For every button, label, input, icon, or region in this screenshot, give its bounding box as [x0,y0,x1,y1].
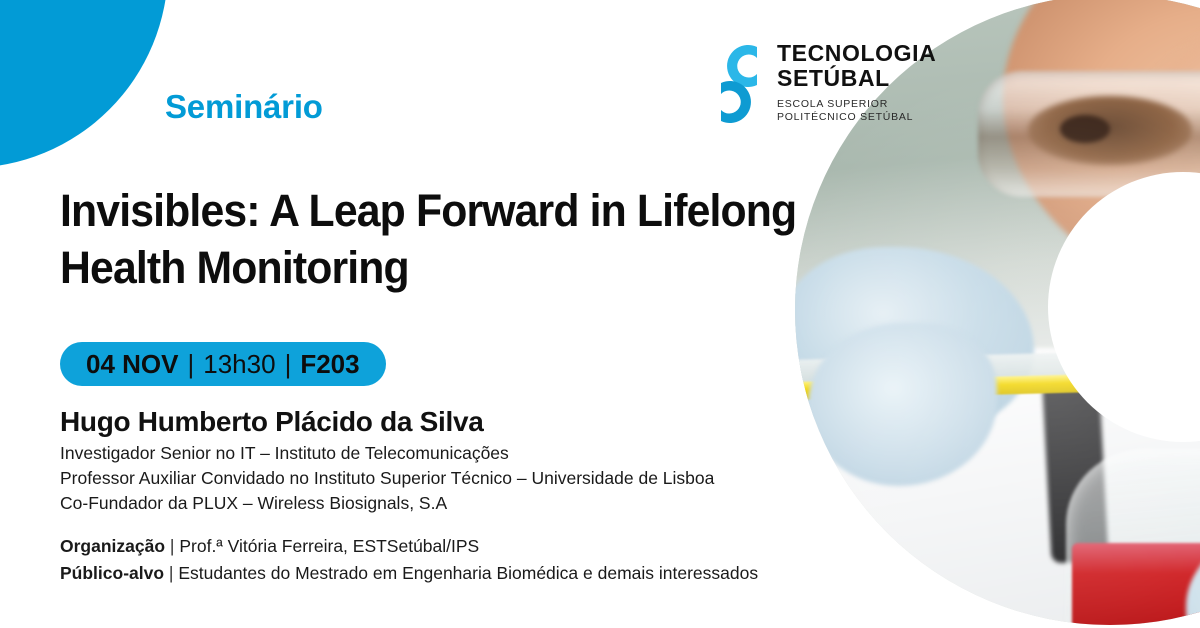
poster-content: Seminário Invisibles: A Leap Forward in … [0,0,1200,628]
seminar-poster: TECNOLOGIA SETÚBAL ESCOLA SUPERIOR POLIT… [0,0,1200,628]
logo-wordmark: TECNOLOGIA SETÚBAL ESCOLA SUPERIOR POLIT… [777,38,936,125]
meta-label: Público-alvo [60,563,164,583]
speaker-affiliations: Investigador Senior no IT – Instituto de… [60,441,714,516]
speaker-name: Hugo Humberto Plácido da Silva [60,406,484,438]
meta-row: Organização | Prof.ª Vitória Ferreira, E… [60,533,758,560]
meta-value: Prof.ª Vitória Ferreira, ESTSetúbal/IPS [179,536,479,556]
meta-row: Público-alvo | Estudantes do Mestrado em… [60,560,758,587]
logo-title-line2: SETÚBAL [777,66,936,91]
institution-logo: TECNOLOGIA SETÚBAL ESCOLA SUPERIOR POLIT… [712,38,936,130]
meta-separator: | [170,536,175,556]
event-time: 13h30 [203,349,275,380]
speaker-affiliation: Professor Auxiliar Convidado no Institut… [60,466,714,491]
event-type-kicker: Seminário [165,88,323,126]
badge-separator-2: | [285,349,292,380]
event-details-badge: 04 NOV | 13h30 | F203 [60,342,386,386]
logo-sub-line1: ESCOLA SUPERIOR [777,98,936,112]
event-meta: Organização | Prof.ª Vitória Ferreira, E… [60,533,758,586]
speaker-affiliation: Co-Fundador da PLUX – Wireless Biosignal… [60,491,714,516]
logo-sub-line2: POLITÉCNICO SETÚBAL [777,111,936,125]
speaker-affiliation: Investigador Senior no IT – Instituto de… [60,441,714,466]
meta-separator: | [169,563,174,583]
page-title: Invisibles: A Leap Forward in Lifelong H… [60,182,849,296]
event-date: 04 NOV [86,349,179,380]
meta-value: Estudantes do Mestrado em Engenharia Bio… [178,563,758,583]
ests-s-mark-icon [712,38,766,130]
event-room: F203 [300,349,359,380]
meta-label: Organização [60,536,165,556]
badge-separator-1: | [188,349,195,380]
logo-title-line1: TECNOLOGIA [777,41,936,66]
